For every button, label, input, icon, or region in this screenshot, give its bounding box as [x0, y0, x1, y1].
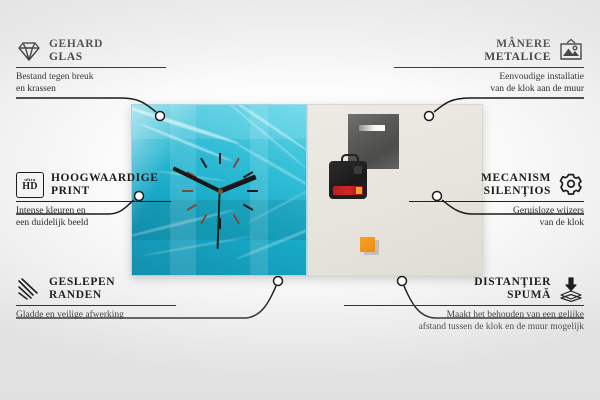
infographic-canvas: GEHARD GLAS Bestand tegen breuk en krass… [0, 0, 600, 400]
callout-geslepen-randen[interactable]: GESLEPEN RANDEN Gladde en veilige afwerk… [16, 276, 176, 322]
callout-hoogwaardige-print[interactable]: ultra HD HOOGWAARDIGE PRINT Intense kleu… [16, 172, 171, 229]
callout-rule [16, 305, 176, 306]
ultra-hd-icon-large-text: HD [22, 182, 38, 192]
callout-desc: Geruisloze wijzers van de klok [409, 206, 584, 229]
callout-distantier-spuma[interactable]: DISTANŢIER SPUMĂ Maakt het behouden van … [344, 276, 584, 333]
hanger-keyhole-slot [359, 125, 385, 131]
callout-title: MÂNERE METALICE [484, 38, 551, 64]
callout-desc: Gladde en veilige afwerking [16, 310, 176, 322]
clock-center-cap [218, 189, 223, 194]
foam-spacer [360, 237, 375, 252]
callout-title: MECANISM SILENŢIOS [481, 172, 551, 198]
callout-title: DISTANŢIER SPUMĂ [474, 276, 551, 302]
callout-rule [409, 201, 584, 202]
arrow-down-foam-icon [558, 276, 584, 302]
hanging-loop [341, 154, 359, 165]
diamond-icon [16, 38, 42, 64]
callout-desc: Bestand tegen breuk en krassen [16, 72, 166, 95]
quartz-mechanism-box [329, 161, 367, 199]
ultra-hd-icon: ultra HD [16, 172, 44, 198]
callout-rule [394, 67, 584, 68]
callout-rule [344, 305, 584, 306]
callout-manere-metalice[interactable]: MÂNERE METALICE Eenvoudige installatie v… [394, 38, 584, 95]
callout-gehard-glas[interactable]: GEHARD GLAS Bestand tegen breuk en krass… [16, 38, 166, 95]
picture-frame-icon [558, 38, 584, 64]
callout-title: HOOGWAARDIGE PRINT [51, 172, 159, 198]
battery [333, 186, 363, 195]
callout-rule [16, 67, 166, 68]
callout-desc: Eenvoudige installatie van de klok aan d… [394, 72, 584, 95]
callout-title: GESLEPEN RANDEN [49, 276, 115, 302]
setting-dial [354, 166, 362, 174]
diagonal-lines-icon [16, 276, 42, 302]
callout-desc: Maakt het behouden van een gelijke afsta… [344, 310, 584, 333]
gear-icon [558, 172, 584, 198]
callout-mecanism-silentios[interactable]: MECANISM SILENŢIOS Geruisloze wijzers va… [409, 172, 584, 229]
callout-desc: Intense kleuren en een duidelijk beeld [16, 206, 171, 229]
callout-title: GEHARD GLAS [49, 38, 103, 64]
callout-rule [16, 201, 171, 202]
